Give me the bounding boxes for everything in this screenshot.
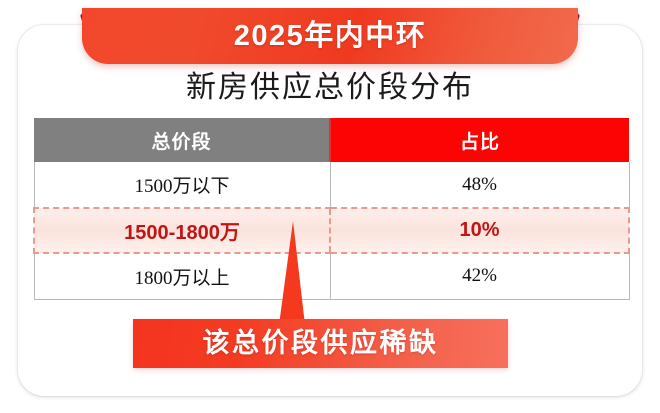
- callout-arrow-icon: [275, 221, 313, 325]
- table-row: 1800万以上 42%: [34, 253, 629, 299]
- price-distribution-table: 总价段 占比 1500万以下 48% 1500-1800万 10% 1800万以…: [33, 118, 630, 300]
- cell-percent: 48%: [330, 162, 629, 208]
- callout-text: 该总价段供应稀缺: [203, 330, 439, 357]
- banner-title: 2025年内中环: [234, 22, 427, 51]
- page-subtitle: 新房供应总价段分布: [0, 68, 660, 108]
- cell-percent: 10%: [330, 208, 629, 253]
- table-row-highlighted: 1500-1800万 10%: [34, 208, 629, 253]
- table-row: 1500万以下 48%: [34, 162, 629, 208]
- cell-category: 1500万以下: [34, 162, 330, 208]
- cell-percent: 42%: [330, 253, 629, 299]
- table-header-category: 总价段: [34, 118, 330, 162]
- top-ribbon-banner: 2025年内中环: [0, 0, 660, 68]
- callout-banner: 该总价段供应稀缺: [133, 319, 508, 368]
- table-header-row: 总价段 占比: [34, 118, 629, 162]
- table-header-percent: 占比: [330, 118, 629, 162]
- ribbon-body: 2025年内中环: [82, 8, 578, 64]
